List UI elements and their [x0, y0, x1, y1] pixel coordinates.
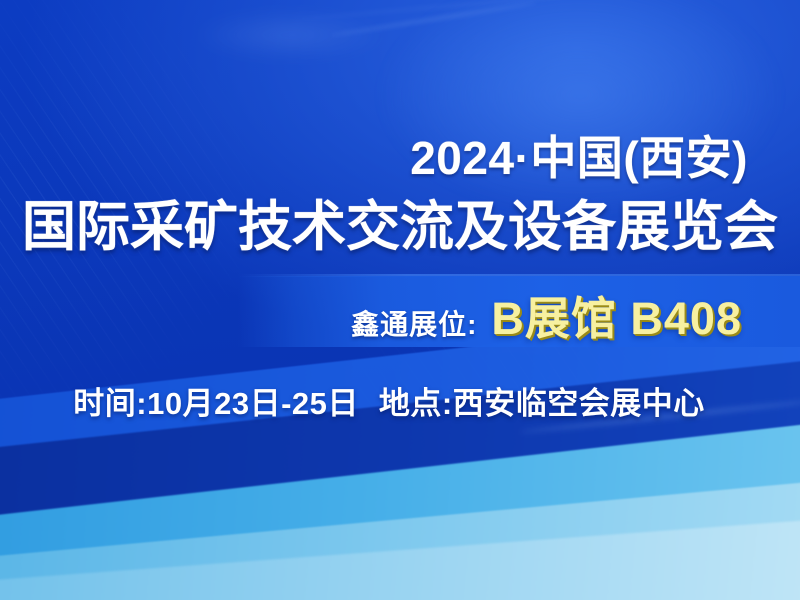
headline-line-1: 2024·中国(西安) — [410, 122, 748, 188]
exhibition-poster: 2024·中国(西安) 国际采矿技术交流及设备展览会 鑫通展位: B展馆 B40… — [0, 0, 800, 600]
headline-line-2: 国际采矿技术交流及设备展览会 — [22, 182, 754, 261]
booth-label: 鑫通展位: — [351, 303, 477, 343]
event-date: 时间:10月23日-25日 — [73, 386, 359, 421]
poster-content: 2024·中国(西安) 国际采矿技术交流及设备展览会 鑫通展位: B展馆 B40… — [0, 0, 800, 600]
event-venue: 地点:西安临空会展中心 — [379, 386, 705, 421]
event-info-line: 时间:10月23日-25日地点:西安临空会展中心 — [0, 378, 800, 423]
booth-number: B展馆 B408 — [491, 282, 742, 347]
booth-row: 鑫通展位: B展馆 B408 — [351, 282, 742, 347]
